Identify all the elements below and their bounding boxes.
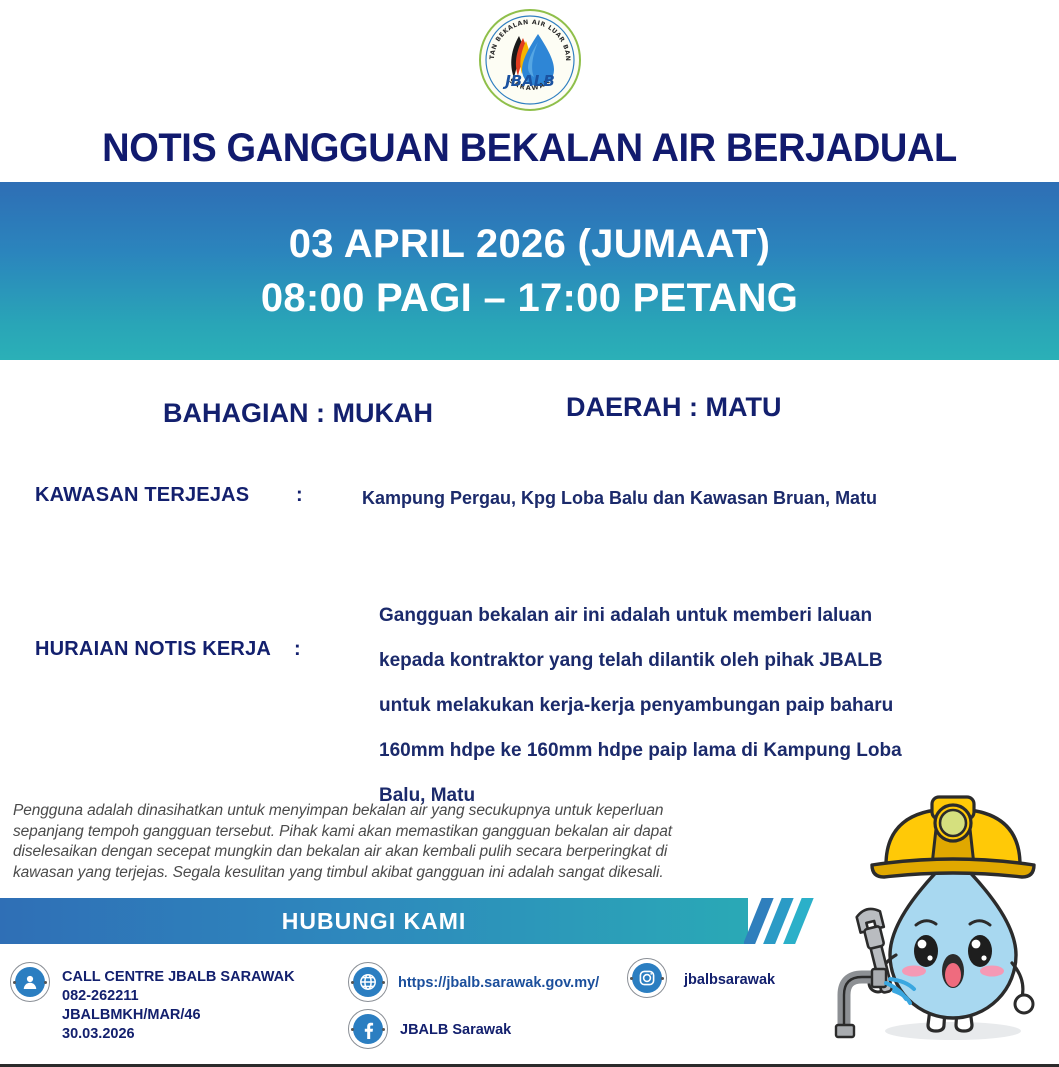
dot-decoration [13, 981, 16, 984]
instagram-icon-inner [632, 963, 662, 993]
dot-decoration [382, 981, 385, 984]
huraian-line: Gangguan bekalan air ini adalah untuk me… [379, 593, 979, 638]
call-centre-title: CALL CENTRE JBALB SARAWAK [62, 968, 295, 987]
advisory-paragraph: Pengguna adalah dinasihatkan untuk menyi… [13, 801, 773, 883]
huraian-line: untuk melakukan kerja-kerja penyambungan… [379, 683, 979, 728]
issue-date: 30.03.2026 [62, 1025, 295, 1044]
instagram-icon[interactable] [627, 958, 667, 998]
huraian-notis-kerja-label: HURAIAN NOTIS KERJA [35, 638, 271, 661]
huraian-line: 160mm hdpe ke 160mm hdpe paip lama di Ka… [379, 728, 979, 773]
facebook-icon-inner [353, 1014, 383, 1044]
advisory-line: diselesaikan dengan secepat mungkin dan … [13, 842, 773, 863]
huraian-notis-kerja-value: Gangguan bekalan air ini adalah untuk me… [379, 593, 979, 818]
dot-decoration [351, 981, 354, 984]
banner-slash-decoration [744, 898, 814, 944]
dot-decoration [630, 977, 633, 980]
time-line: 08:00 PAGI – 17:00 PETANG [261, 273, 798, 323]
logo-container: JABATAN BEKALAN AIR LUAR BANDAR SARAWAK … [0, 6, 1059, 114]
jbalb-logo: JABATAN BEKALAN AIR LUAR BANDAR SARAWAK … [478, 8, 582, 112]
hubungi-kami-banner: HUBUNGI KAMI [0, 898, 748, 944]
dot-decoration [44, 981, 47, 984]
advisory-line: Pengguna adalah dinasihatkan untuk menyi… [13, 801, 773, 822]
bahagian-label: BAHAGIAN : MUKAH [163, 398, 433, 429]
water-droplet-plumber-mascot [828, 793, 1054, 1055]
svg-text:JBALB: JBALB [502, 72, 555, 90]
call-centre-phone: 082-262211 [62, 987, 295, 1006]
website-url[interactable]: https://jbalb.sarawak.gov.my/ [398, 975, 599, 991]
page-title: NOTIS GANGGUAN BEKALAN AIR BERJADUAL [26, 126, 1032, 171]
instagram-handle[interactable]: jbalbsarawak [684, 972, 775, 988]
kawasan-colon: : [296, 484, 303, 507]
kawasan-terjejas-value: Kampung Pergau, Kpg Loba Balu dan Kawasa… [362, 488, 877, 509]
division-row: BAHAGIAN : MUKAH DAERAH : MATU [0, 392, 1059, 436]
huraian-line: kepada kontraktor yang telah dilantik ol… [379, 638, 979, 683]
facebook-icon[interactable] [348, 1009, 388, 1049]
date-line: 03 APRIL 2026 (JUMAAT) [289, 219, 771, 269]
person-icon-inner [15, 967, 45, 997]
person-icon [10, 962, 50, 1002]
hubungi-kami-title: HUBUNGI KAMI [282, 908, 467, 935]
facebook-handle[interactable]: JBALB Sarawak [400, 1022, 511, 1038]
advisory-line: sepanjang tempoh gangguan tersebut. Piha… [13, 822, 773, 843]
globe-icon-inner [353, 967, 383, 997]
dot-decoration [382, 1028, 385, 1031]
globe-icon[interactable] [348, 962, 388, 1002]
reference-number: JBALBMKH/MAR/46 [62, 1006, 295, 1025]
huraian-colon: : [294, 638, 301, 661]
date-banner: 03 APRIL 2026 (JUMAAT) 08:00 PAGI – 17:0… [0, 182, 1059, 360]
notice-page: JABATAN BEKALAN AIR LUAR BANDAR SARAWAK … [0, 0, 1059, 1064]
dot-decoration [661, 977, 664, 980]
daerah-label: DAERAH : MATU [566, 392, 781, 423]
dot-decoration [351, 1028, 354, 1031]
advisory-line: kawasan yang terjejas. Segala kesulitan … [13, 863, 773, 884]
kawasan-terjejas-label: KAWASAN TERJEJAS [35, 484, 249, 507]
call-centre-text: CALL CENTRE JBALB SARAWAK 082-262211 JBA… [62, 968, 295, 1044]
